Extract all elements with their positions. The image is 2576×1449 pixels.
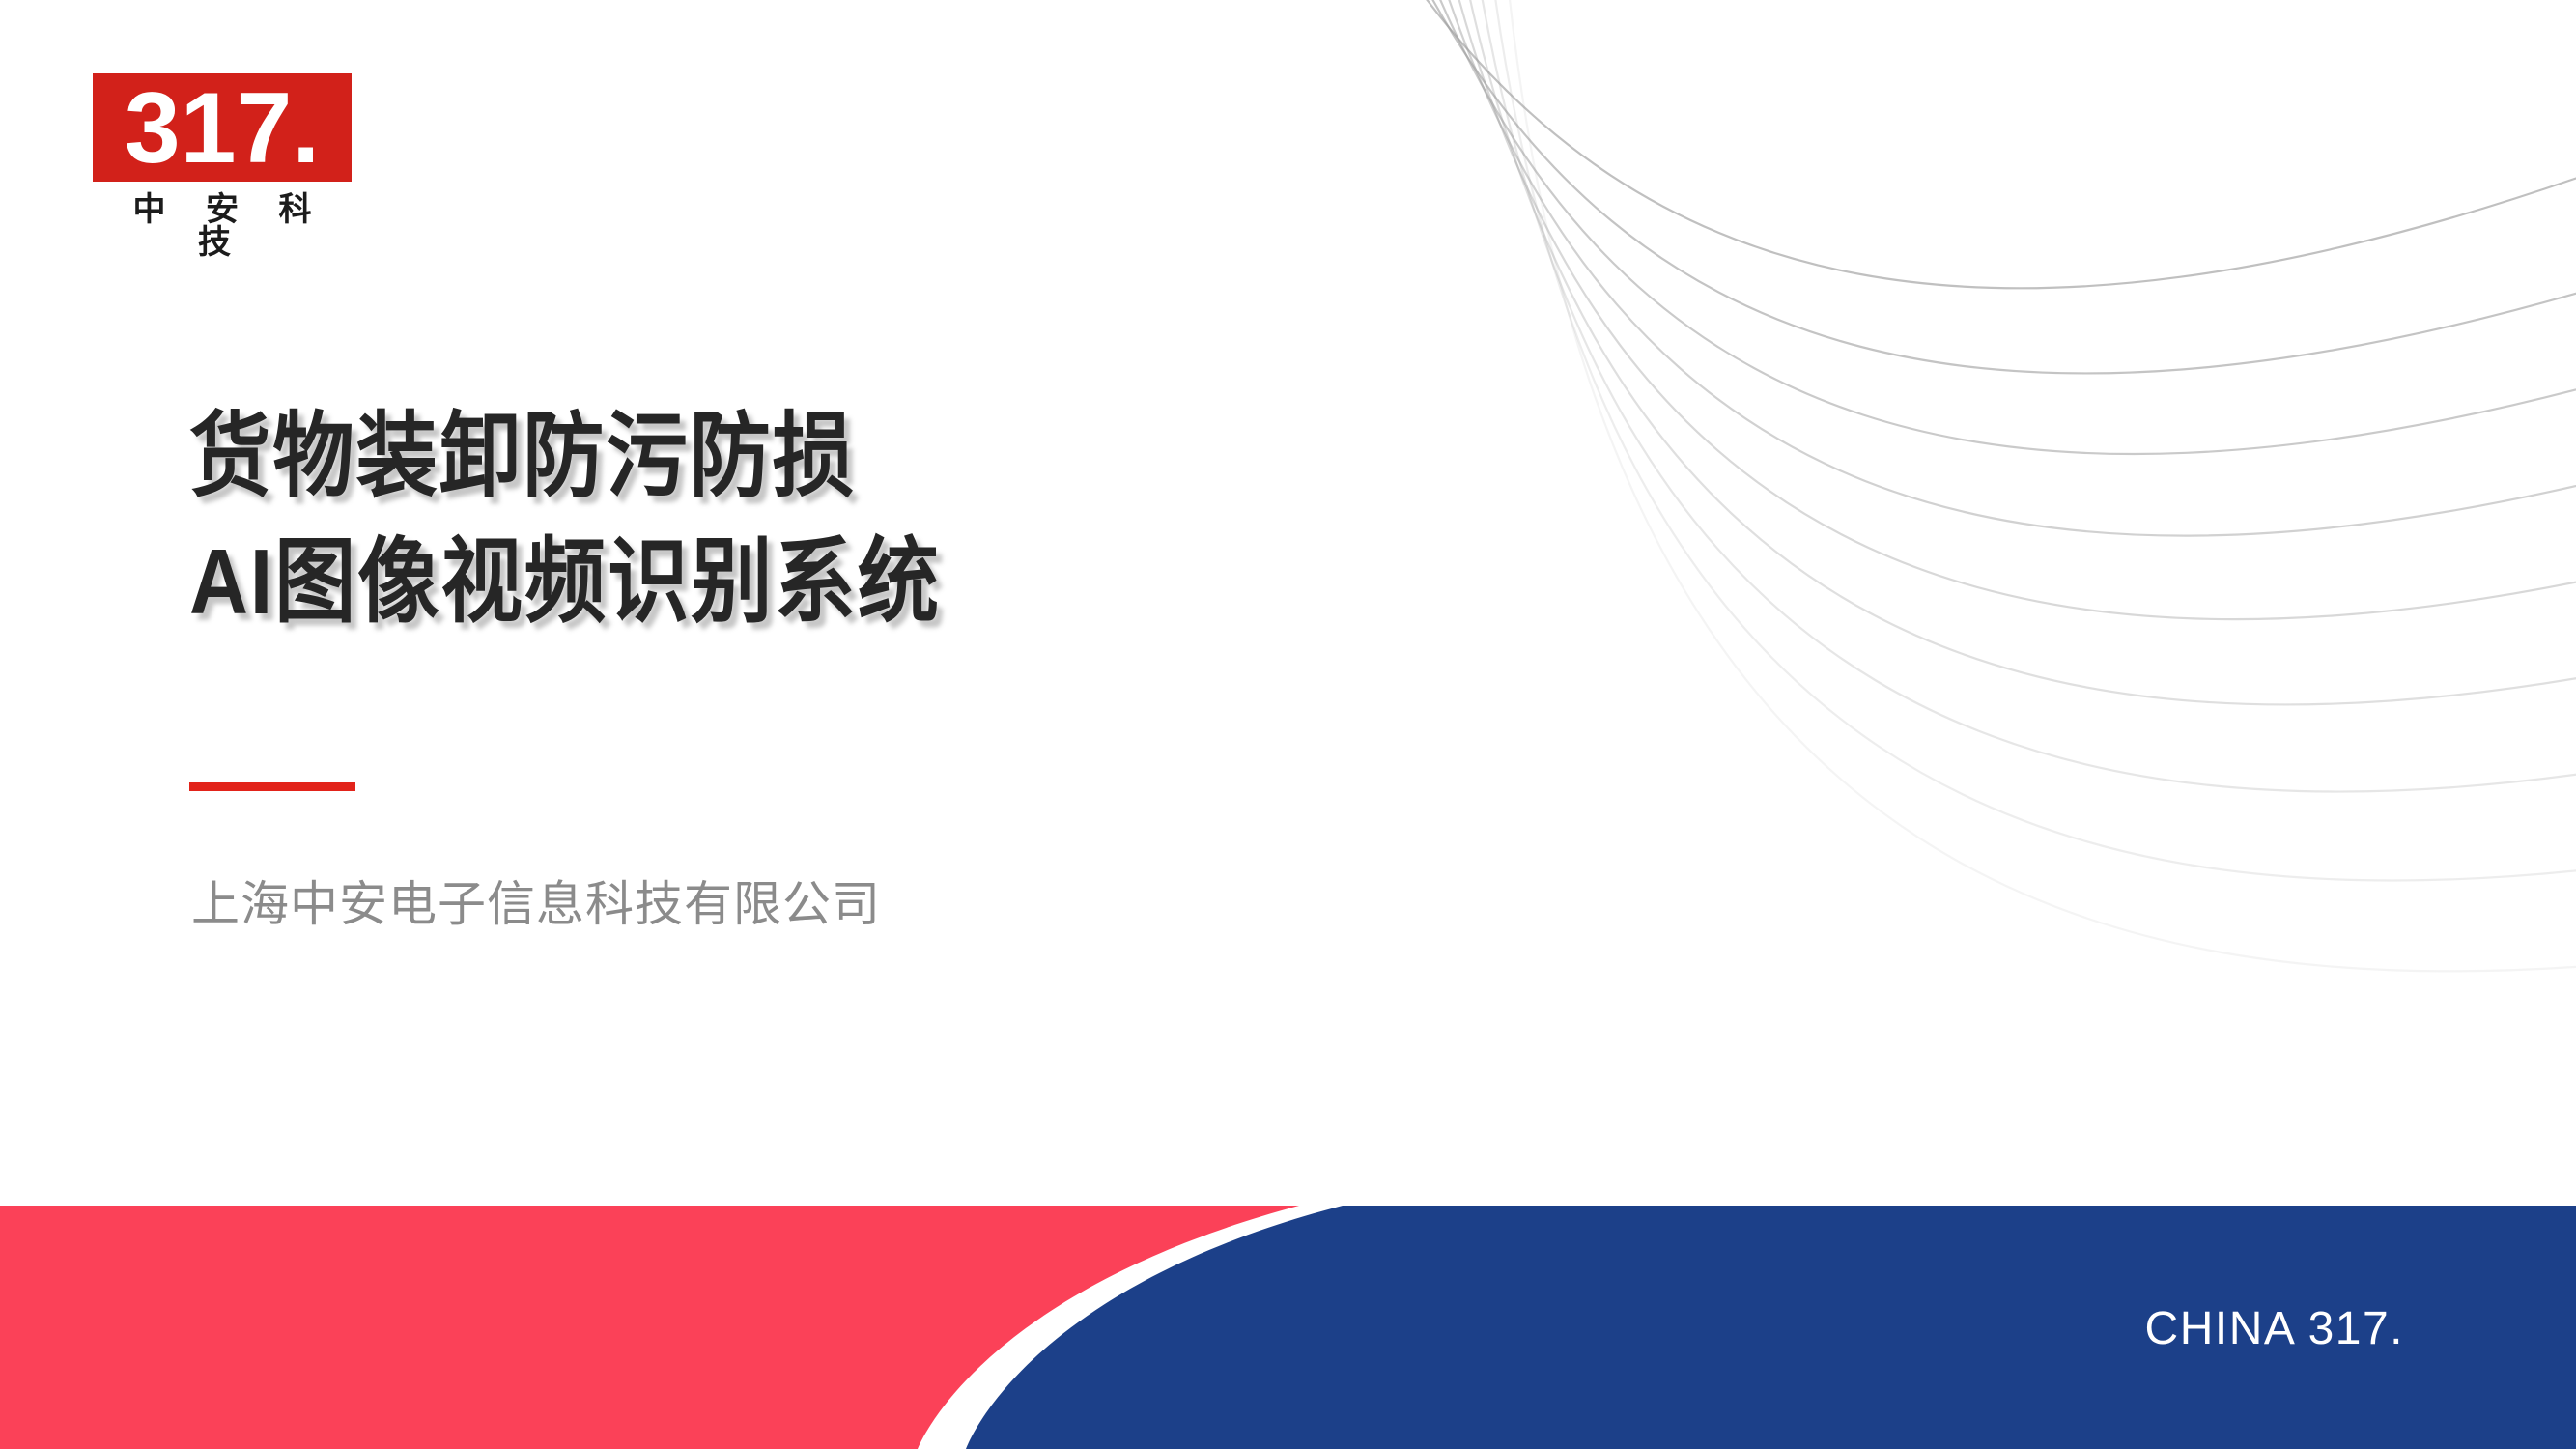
company-logo: 317. 中 安 科 技 (93, 73, 352, 259)
logo-mark-text: 317. (125, 73, 320, 182)
footer-brand-label: CHINA 317. (2145, 1302, 2404, 1355)
logo-wordmark: 中 安 科 技 (93, 193, 352, 259)
page-title-line-2: AI图像视频识别系统 (189, 520, 1379, 645)
title-divider-rule (189, 782, 355, 791)
logo-317-mark: 317. (93, 73, 352, 182)
page-title-line-1: 货物装卸防污防损 (189, 394, 1379, 520)
slide-canvas: 317. 中 安 科 技 货物装卸防污防损 AI图像视频识别系统 上海中安电子信… (0, 0, 2576, 1449)
company-name-subtitle: 上海中安电子信息科技有限公司 (191, 874, 881, 935)
page-title: 货物装卸防污防损 AI图像视频识别系统 (189, 394, 1542, 644)
